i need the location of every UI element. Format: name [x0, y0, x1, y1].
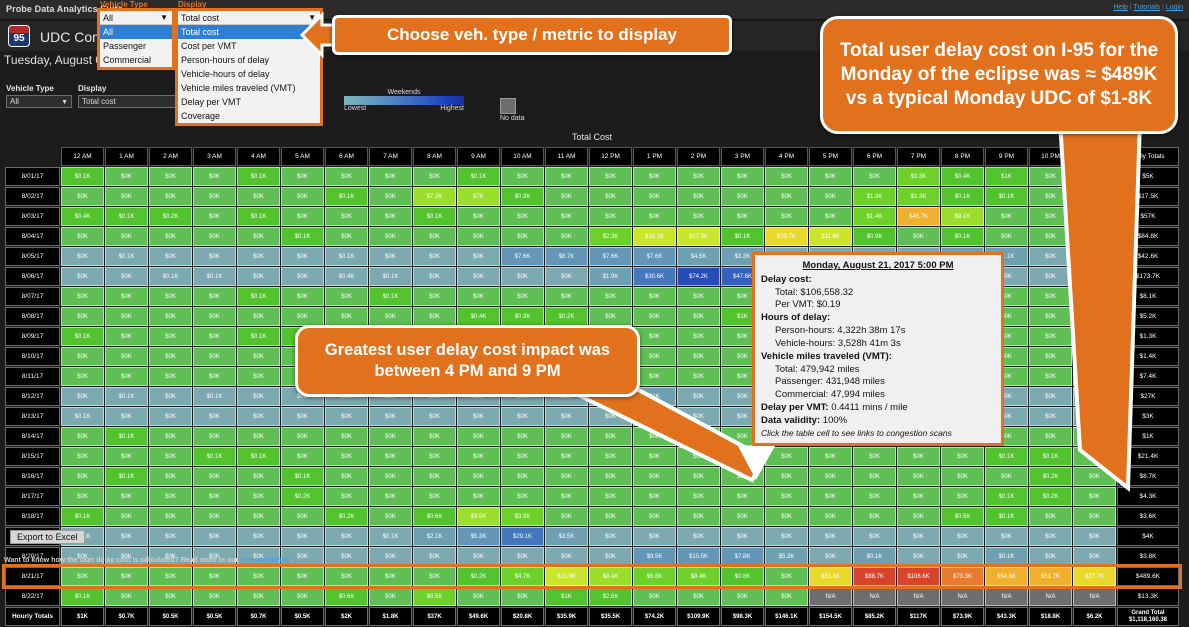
heatmap-cell[interactable]: $0.1K — [457, 167, 500, 186]
heatmap-cell[interactable]: $0K — [149, 507, 192, 526]
heatmap-cell[interactable]: $73.3K — [941, 567, 984, 586]
vehicle-type-dropdown-popup[interactable]: All▼ All Passenger Commercial — [97, 8, 175, 70]
heatmap-cell[interactable]: $0K — [149, 167, 192, 186]
heatmap-cell[interactable]: $0K — [105, 187, 148, 206]
heatmap-cell[interactable]: $0.5K — [941, 507, 984, 526]
heatmap-cell[interactable]: $0K — [61, 447, 104, 466]
heatmap-cell[interactable]: $0K — [149, 447, 192, 466]
heatmap-cell[interactable]: $0K — [193, 587, 236, 606]
heatmap-cell[interactable]: $0.1K — [985, 547, 1028, 566]
heatmap-cell[interactable]: $0K — [149, 367, 192, 386]
heatmap-cell[interactable]: $0K — [193, 487, 236, 506]
heatmap-cell[interactable]: $0K — [237, 527, 280, 546]
heatmap-cell[interactable]: $0K — [897, 527, 940, 546]
heatmap-cell[interactable]: $37.7K — [1073, 567, 1116, 586]
heatmap-cell[interactable]: $0K — [193, 207, 236, 226]
heatmap-cell[interactable]: $54.6K — [985, 567, 1028, 586]
table-row[interactable]: 8/21/17$0K$0K$0K$0K$0K$0K$0K$0K$0K$0.2K$… — [5, 567, 1179, 586]
heatmap-cell[interactable]: N/A — [809, 587, 852, 606]
documentation-link[interactable]: documentation — [240, 557, 290, 564]
heatmap-cell[interactable]: $5.3K — [457, 527, 500, 546]
heatmap-cell[interactable]: $0K — [545, 187, 588, 206]
heatmap-cell[interactable]: $0K — [721, 527, 764, 546]
heatmap-cell[interactable]: $0.1K — [193, 387, 236, 406]
heatmap-cell[interactable]: $0K — [369, 207, 412, 226]
heatmap-cell[interactable]: $1.9K — [589, 267, 632, 286]
heatmap-cell[interactable]: $0K — [281, 447, 324, 466]
heatmap-cell[interactable]: $0K — [281, 167, 324, 186]
heatmap-cell[interactable]: $0K — [325, 487, 368, 506]
heatmap-cell[interactable]: $0.6K — [413, 507, 456, 526]
heatmap-cell[interactable]: $0K — [61, 427, 104, 446]
heatmap-cell[interactable]: $0.1K — [413, 207, 456, 226]
heatmap-cell[interactable]: $0.1K — [61, 587, 104, 606]
heatmap-cell[interactable]: $0K — [721, 587, 764, 606]
heatmap-cell[interactable]: $0K — [61, 307, 104, 326]
heatmap-cell[interactable]: $7.6K — [501, 247, 544, 266]
heatmap-cell[interactable]: $0K — [369, 487, 412, 506]
display-option-person-hours-of-delay[interactable]: Person-hours of delay — [178, 53, 320, 67]
display-dropdown-current[interactable]: Total cost▼ — [178, 11, 320, 25]
heatmap-cell[interactable]: $0K — [193, 227, 236, 246]
heatmap-cell[interactable]: $0K — [61, 347, 104, 366]
heatmap-cell[interactable]: $0K — [325, 527, 368, 546]
heatmap-cell[interactable]: $0K — [677, 527, 720, 546]
heatmap-cell[interactable]: $0K — [61, 187, 104, 206]
heatmap-cell[interactable]: $0K — [281, 207, 324, 226]
heatmap-cell[interactable]: $0.1K — [61, 167, 104, 186]
heatmap-cell[interactable]: $0K — [765, 187, 808, 206]
heatmap-cell[interactable]: N/A — [853, 587, 896, 606]
heatmap-cell[interactable]: $0K — [105, 327, 148, 346]
heatmap-cell[interactable]: $0K — [149, 407, 192, 426]
heatmap-cell[interactable]: $0K — [237, 567, 280, 586]
heatmap-cell[interactable]: $0K — [457, 547, 500, 566]
heatmap-cell[interactable]: $0.1K — [237, 327, 280, 346]
heatmap-cell[interactable]: $0.1K — [369, 527, 412, 546]
display-option-coverage[interactable]: Coverage — [178, 109, 320, 123]
heatmap-cell[interactable]: $0K — [501, 267, 544, 286]
heatmap-cell[interactable]: $0K — [589, 307, 632, 326]
tutorials-link[interactable]: Tutorials — [1134, 4, 1161, 11]
heatmap-cell[interactable]: $8.4K — [589, 567, 632, 586]
heatmap-cell[interactable]: $0K — [589, 167, 632, 186]
heatmap-cell[interactable]: $0K — [809, 207, 852, 226]
heatmap-cell[interactable]: $0K — [369, 567, 412, 586]
heatmap-cell[interactable]: $0.1K — [193, 267, 236, 286]
heatmap-cell[interactable]: $106.6K — [897, 567, 940, 586]
heatmap-cell[interactable]: $0K — [281, 527, 324, 546]
heatmap-cell[interactable]: $0K — [281, 307, 324, 326]
heatmap-cell[interactable]: $0K — [853, 507, 896, 526]
table-row[interactable]: 8/02/17$0K$0K$0K$0K$0K$0K$0.1K$0K$7.3K$7… — [5, 187, 1179, 206]
heatmap-cell[interactable]: $0K — [1073, 527, 1116, 546]
heatmap-cell[interactable]: $0K — [545, 287, 588, 306]
heatmap-cell[interactable]: $0K — [633, 307, 676, 326]
heatmap-cell[interactable]: $0K — [237, 247, 280, 266]
heatmap-cell[interactable]: $74.2K — [677, 267, 720, 286]
heatmap-cell[interactable]: $0K — [633, 587, 676, 606]
heatmap-cell[interactable]: $0K — [369, 227, 412, 246]
table-row[interactable]: 8/03/17$0.4K$0.1K$0.2K$0K$0.1K$0K$0K$0K$… — [5, 207, 1179, 226]
heatmap-cell[interactable]: $0K — [545, 507, 588, 526]
heatmap-cell[interactable]: $0K — [1029, 527, 1072, 546]
heatmap-cell[interactable]: N/A — [941, 587, 984, 606]
heatmap-cell[interactable]: $0K — [633, 507, 676, 526]
heatmap-cell[interactable]: $0K — [721, 187, 764, 206]
heatmap-cell[interactable]: $0K — [413, 247, 456, 266]
heatmap-cell[interactable]: $0K — [853, 487, 896, 506]
heatmap-cell[interactable]: $0K — [369, 467, 412, 486]
heatmap-cell[interactable]: $0K — [325, 467, 368, 486]
heatmap-cell[interactable]: $0K — [325, 547, 368, 566]
heatmap-cell[interactable]: $4.7K — [501, 567, 544, 586]
heatmap-cell[interactable]: $0.1K — [281, 467, 324, 486]
heatmap-cell[interactable]: $0K — [237, 267, 280, 286]
heatmap-cell[interactable]: $0K — [809, 547, 852, 566]
heatmap-cell[interactable]: $0K — [61, 567, 104, 586]
heatmap-cell[interactable]: $0K — [413, 307, 456, 326]
heatmap-cell[interactable]: $0K — [61, 247, 104, 266]
heatmap-cell[interactable]: $0K — [105, 587, 148, 606]
heatmap-cell[interactable]: $7K — [457, 187, 500, 206]
heatmap-cell[interactable]: $2.3K — [589, 227, 632, 246]
heatmap-cell[interactable]: $0K — [105, 347, 148, 366]
heatmap-cell[interactable]: $0K — [149, 587, 192, 606]
heatmap-cell[interactable]: $0K — [589, 287, 632, 306]
heatmap-cell[interactable]: $0K — [765, 507, 808, 526]
heatmap-cell[interactable]: $0K — [941, 547, 984, 566]
heatmap-cell[interactable]: $0.1K — [853, 547, 896, 566]
heatmap-cell[interactable]: $1.3K — [897, 187, 940, 206]
heatmap-cell[interactable]: $45.7K — [897, 207, 940, 226]
heatmap-cell[interactable]: $0K — [897, 487, 940, 506]
heatmap-cell[interactable]: $0K — [501, 447, 544, 466]
heatmap-cell[interactable]: $0K — [149, 187, 192, 206]
heatmap-cell[interactable]: $0K — [589, 507, 632, 526]
heatmap-cell[interactable]: $0K — [369, 587, 412, 606]
heatmap-cell[interactable]: $0.1K — [325, 247, 368, 266]
heatmap-cell[interactable]: $0.4K — [941, 167, 984, 186]
heatmap-cell[interactable]: $0K — [545, 207, 588, 226]
heatmap-cell[interactable]: $0K — [369, 407, 412, 426]
heatmap-cell[interactable]: $0K — [545, 227, 588, 246]
heatmap-cell[interactable]: $0K — [633, 527, 676, 546]
heatmap-cell[interactable]: $0K — [193, 567, 236, 586]
heatmap-cell[interactable]: $7.3K — [413, 187, 456, 206]
display-select[interactable]: Total cost — [78, 95, 180, 108]
heatmap-cell[interactable]: $0K — [413, 167, 456, 186]
heatmap-cell[interactable]: $30.6K — [633, 267, 676, 286]
heatmap-cell[interactable]: $3.9K — [501, 507, 544, 526]
heatmap-cell[interactable]: $0K — [325, 427, 368, 446]
table-row[interactable]: 8/01/17$0.1K$0K$0K$0K$0.1K$0K$0K$0K$0K$0… — [5, 167, 1179, 186]
heatmap-cell[interactable]: $0K — [677, 587, 720, 606]
heatmap-cell[interactable]: $0.2K — [281, 487, 324, 506]
heatmap-cell[interactable]: $18.1K — [633, 227, 676, 246]
heatmap-cell[interactable]: $0K — [237, 307, 280, 326]
heatmap-cell[interactable]: $0K — [721, 507, 764, 526]
heatmap-cell[interactable]: $0K — [237, 367, 280, 386]
heatmap-cell[interactable]: $0K — [61, 487, 104, 506]
heatmap-cell[interactable]: $0K — [369, 307, 412, 326]
vehicle-type-option-commercial[interactable]: Commercial — [100, 53, 172, 67]
heatmap-cell[interactable]: $0.1K — [105, 467, 148, 486]
heatmap-cell[interactable]: $0K — [149, 227, 192, 246]
heatmap-cell[interactable]: $0K — [897, 507, 940, 526]
heatmap-cell[interactable]: $0.1K — [61, 327, 104, 346]
heatmap-cell[interactable]: $0.1K — [61, 507, 104, 526]
heatmap-cell[interactable]: $11.9K — [545, 567, 588, 586]
heatmap-cell[interactable]: $0K — [237, 507, 280, 526]
display-option-vehicle-hours-of-delay[interactable]: Vehicle-hours of delay — [178, 67, 320, 81]
heatmap-cell[interactable]: $0K — [589, 547, 632, 566]
heatmap-cell[interactable]: $0K — [941, 447, 984, 466]
heatmap-cell[interactable]: $33.7K — [765, 227, 808, 246]
heatmap-cell[interactable]: $9.5K — [457, 507, 500, 526]
heatmap-cell[interactable]: $0K — [413, 427, 456, 446]
heatmap-cell[interactable]: $0K — [325, 227, 368, 246]
heatmap-cell[interactable]: $0K — [193, 327, 236, 346]
heatmap-cell[interactable]: $0K — [633, 187, 676, 206]
heatmap-cell[interactable]: $0K — [765, 527, 808, 546]
heatmap-cell[interactable]: $0K — [281, 247, 324, 266]
heatmap-cell[interactable]: $0.1K — [105, 427, 148, 446]
heatmap-cell[interactable]: $0.2K — [149, 207, 192, 226]
heatmap-cell[interactable]: $0.4K — [457, 307, 500, 326]
heatmap-cell[interactable]: $0K — [281, 187, 324, 206]
heatmap-cell[interactable]: $0K — [149, 427, 192, 446]
heatmap-cell[interactable]: $0K — [457, 467, 500, 486]
heatmap-cell[interactable]: $0K — [677, 187, 720, 206]
heatmap-cell[interactable]: $0K — [413, 487, 456, 506]
heatmap-cell[interactable]: $0K — [61, 387, 104, 406]
heatmap-cell[interactable]: $8.4K — [677, 567, 720, 586]
heatmap-cell[interactable]: $0.1K — [325, 187, 368, 206]
heatmap-cell[interactable]: $88.7K — [853, 567, 896, 586]
heatmap-cell[interactable]: $17.8K — [677, 227, 720, 246]
heatmap-cell[interactable]: $0K — [325, 207, 368, 226]
heatmap-cell[interactable]: $0K — [633, 207, 676, 226]
heatmap-cell[interactable]: $0K — [413, 267, 456, 286]
export-to-excel-button[interactable]: Export to Excel — [10, 530, 85, 544]
heatmap-cell[interactable]: $0K — [809, 447, 852, 466]
heatmap-cell[interactable]: $0K — [325, 567, 368, 586]
heatmap-cell[interactable]: $0K — [457, 487, 500, 506]
heatmap-cell[interactable]: $0K — [413, 447, 456, 466]
heatmap-cell[interactable]: $0K — [61, 287, 104, 306]
heatmap-cell[interactable]: $0.8K — [721, 567, 764, 586]
heatmap-cell[interactable]: $0.1K — [105, 207, 148, 226]
heatmap-cell[interactable]: $31.5K — [809, 567, 852, 586]
heatmap-cell[interactable]: $0K — [61, 227, 104, 246]
heatmap-cell[interactable]: $0K — [281, 587, 324, 606]
heatmap-cell[interactable]: $0.1K — [105, 387, 148, 406]
heatmap-cell[interactable]: $0K — [61, 467, 104, 486]
heatmap-cell[interactable]: $0K — [413, 287, 456, 306]
heatmap-cell[interactable]: $0K — [589, 207, 632, 226]
heatmap-cell[interactable]: $0K — [501, 467, 544, 486]
heatmap-cell[interactable]: $0K — [677, 327, 720, 346]
heatmap-cell[interactable]: $0.1K — [941, 227, 984, 246]
heatmap-cell[interactable]: $0K — [149, 387, 192, 406]
heatmap-cell[interactable]: $1.3K — [853, 187, 896, 206]
heatmap-cell[interactable]: $0K — [105, 267, 148, 286]
heatmap-cell[interactable]: $0K — [237, 587, 280, 606]
heatmap-cell[interactable]: N/A — [1029, 587, 1072, 606]
heatmap-cell[interactable]: $0K — [369, 167, 412, 186]
heatmap-cell[interactable]: $0K — [457, 207, 500, 226]
heatmap-cell[interactable]: $0K — [149, 327, 192, 346]
heatmap-cell[interactable]: $0K — [545, 167, 588, 186]
heatmap-cell[interactable]: $0K — [677, 167, 720, 186]
heatmap-cell[interactable]: $0K — [721, 207, 764, 226]
heatmap-cell[interactable]: $0K — [281, 427, 324, 446]
heatmap-cell[interactable]: $0K — [633, 287, 676, 306]
vehicle-type-dropdown-current[interactable]: All▼ — [100, 11, 172, 25]
heatmap-cell[interactable]: $0K — [809, 507, 852, 526]
heatmap-cell[interactable]: $0.1K — [281, 227, 324, 246]
heatmap-cell[interactable]: $0.1K — [61, 407, 104, 426]
heatmap-cell[interactable]: $0.9K — [853, 227, 896, 246]
heatmap-cell[interactable]: $0K — [61, 267, 104, 286]
heatmap-cell[interactable]: $0K — [193, 247, 236, 266]
heatmap-cell[interactable]: $0K — [237, 487, 280, 506]
heatmap-cell[interactable]: $0K — [237, 407, 280, 426]
heatmap-cell[interactable]: $0K — [545, 547, 588, 566]
heatmap-cell[interactable]: $0K — [413, 567, 456, 586]
heatmap-cell[interactable]: $0K — [193, 427, 236, 446]
heatmap-cell[interactable]: $0K — [369, 547, 412, 566]
heatmap-cell[interactable]: $0K — [765, 207, 808, 226]
table-row[interactable]: 8/18/17$0.1K$0K$0K$0K$0K$0K$0.2K$0K$0.6K… — [5, 507, 1179, 526]
heatmap-cell[interactable]: $0K — [941, 527, 984, 546]
heatmap-cell[interactable]: $0K — [105, 487, 148, 506]
heatmap-cell[interactable]: $0K — [501, 547, 544, 566]
heatmap-cell[interactable]: $6.8K — [633, 567, 676, 586]
heatmap-cell[interactable]: $0K — [809, 467, 852, 486]
heatmap-cell[interactable]: $0.2K — [325, 507, 368, 526]
heatmap-cell[interactable]: $0K — [105, 507, 148, 526]
heatmap-cell[interactable]: $5.2K — [765, 547, 808, 566]
heatmap-cell[interactable]: $0K — [677, 507, 720, 526]
heatmap-cell[interactable]: $0K — [369, 427, 412, 446]
heatmap-cell[interactable]: $0K — [1029, 507, 1072, 526]
heatmap-cell[interactable]: $1K — [545, 587, 588, 606]
heatmap-cell[interactable]: $0K — [325, 447, 368, 466]
heatmap-cell[interactable]: $0K — [677, 207, 720, 226]
heatmap-cell[interactable]: $0K — [149, 247, 192, 266]
heatmap-cell[interactable]: $2.1K — [413, 527, 456, 546]
heatmap-cell[interactable]: $0K — [281, 287, 324, 306]
heatmap-cell[interactable]: $0K — [413, 227, 456, 246]
heatmap-cell[interactable]: $0K — [853, 527, 896, 546]
heatmap-cell[interactable]: $0K — [677, 307, 720, 326]
heatmap-cell[interactable]: N/A — [897, 587, 940, 606]
heatmap-cell[interactable]: $3.3K — [897, 167, 940, 186]
heatmap-cell[interactable]: $3.5K — [545, 527, 588, 546]
heatmap-cell[interactable]: $0.1K — [149, 267, 192, 286]
heatmap-cell[interactable]: $0K — [589, 187, 632, 206]
heatmap-cell[interactable]: $0K — [193, 187, 236, 206]
heatmap-cell[interactable]: $0K — [237, 387, 280, 406]
heatmap-cell[interactable]: $0K — [501, 227, 544, 246]
heatmap-cell[interactable]: $0.1K — [941, 187, 984, 206]
heatmap-cell[interactable]: $0K — [457, 247, 500, 266]
heatmap-cell[interactable]: $0K — [809, 187, 852, 206]
heatmap-cell[interactable]: $0K — [237, 187, 280, 206]
heatmap-cell[interactable]: N/A — [1073, 587, 1116, 606]
heatmap-cell[interactable]: $0K — [193, 527, 236, 546]
heatmap-cell[interactable]: $4.5K — [677, 247, 720, 266]
help-link[interactable]: Help — [1114, 4, 1128, 11]
heatmap-cell[interactable]: $0K — [457, 447, 500, 466]
heatmap-cell[interactable]: $0K — [149, 567, 192, 586]
heatmap-cell[interactable]: $0K — [105, 367, 148, 386]
heatmap-cell[interactable]: $0K — [501, 407, 544, 426]
heatmap-cell[interactable]: $0K — [457, 427, 500, 446]
heatmap-cell[interactable]: $9.1K — [941, 207, 984, 226]
heatmap-cell[interactable]: $0K — [765, 167, 808, 186]
heatmap-cell[interactable]: $0K — [149, 307, 192, 326]
heatmap-cell[interactable]: $0K — [237, 227, 280, 246]
heatmap-cell[interactable]: $0K — [677, 287, 720, 306]
heatmap-cell[interactable]: $0K — [325, 167, 368, 186]
heatmap-cell[interactable]: $8.7K — [545, 247, 588, 266]
heatmap-cell[interactable]: $0.2K — [545, 307, 588, 326]
heatmap-cell[interactable]: $29.1K — [501, 527, 544, 546]
heatmap-cell[interactable]: $0K — [501, 167, 544, 186]
heatmap-cell[interactable]: $0K — [325, 407, 368, 426]
heatmap-cell[interactable]: $7.6K — [633, 247, 676, 266]
heatmap-cell[interactable]: $7.8K — [721, 547, 764, 566]
heatmap-cell[interactable]: $0K — [193, 167, 236, 186]
heatmap-cell[interactable]: $0K — [149, 487, 192, 506]
heatmap-cell[interactable]: $0K — [193, 367, 236, 386]
heatmap-cell[interactable]: $0K — [149, 347, 192, 366]
heatmap-cell[interactable]: $0K — [501, 587, 544, 606]
heatmap-cell[interactable]: $0.1K — [193, 447, 236, 466]
heatmap-cell[interactable]: $0K — [105, 167, 148, 186]
table-row[interactable]: 8/22/17$0.1K$0K$0K$0K$0K$0K$0.6K$0K$8.5K… — [5, 587, 1179, 606]
heatmap-cell[interactable]: $0K — [457, 227, 500, 246]
heatmap-cell[interactable]: $0.1K — [237, 167, 280, 186]
heatmap-cell[interactable]: $0.1K — [237, 207, 280, 226]
heatmap-cell[interactable]: $1.4K — [853, 207, 896, 226]
heatmap-cell[interactable]: $0K — [369, 447, 412, 466]
heatmap-cell[interactable]: $0.4K — [61, 207, 104, 226]
heatmap-cell[interactable]: $0K — [237, 347, 280, 366]
heatmap-cell[interactable]: $0K — [897, 547, 940, 566]
heatmap-cell[interactable]: $0K — [1029, 547, 1072, 566]
vehicle-type-option-passenger[interactable]: Passenger — [100, 39, 172, 53]
heatmap-cell[interactable]: $0K — [281, 407, 324, 426]
heatmap-cell[interactable]: $0K — [61, 367, 104, 386]
heatmap-cell[interactable]: $0K — [193, 507, 236, 526]
heatmap-cell[interactable]: $0K — [413, 467, 456, 486]
display-option-vmt[interactable]: Vehicle miles traveled (VMT) — [178, 81, 320, 95]
heatmap-cell[interactable]: $0K — [809, 487, 852, 506]
table-row[interactable]: 8/04/17$0K$0K$0K$0K$0K$0.1K$0K$0K$0K$0K$… — [5, 227, 1179, 246]
heatmap-cell[interactable]: $0K — [853, 467, 896, 486]
heatmap-cell[interactable]: $0K — [501, 207, 544, 226]
heatmap-cell[interactable]: $0K — [193, 307, 236, 326]
heatmap-cell[interactable]: $0.4K — [325, 267, 368, 286]
login-link[interactable]: Login — [1166, 4, 1183, 11]
heatmap-cell[interactable]: $0.3K — [501, 187, 544, 206]
heatmap-cell[interactable]: $0K — [281, 267, 324, 286]
heatmap-cell[interactable]: $0K — [501, 487, 544, 506]
